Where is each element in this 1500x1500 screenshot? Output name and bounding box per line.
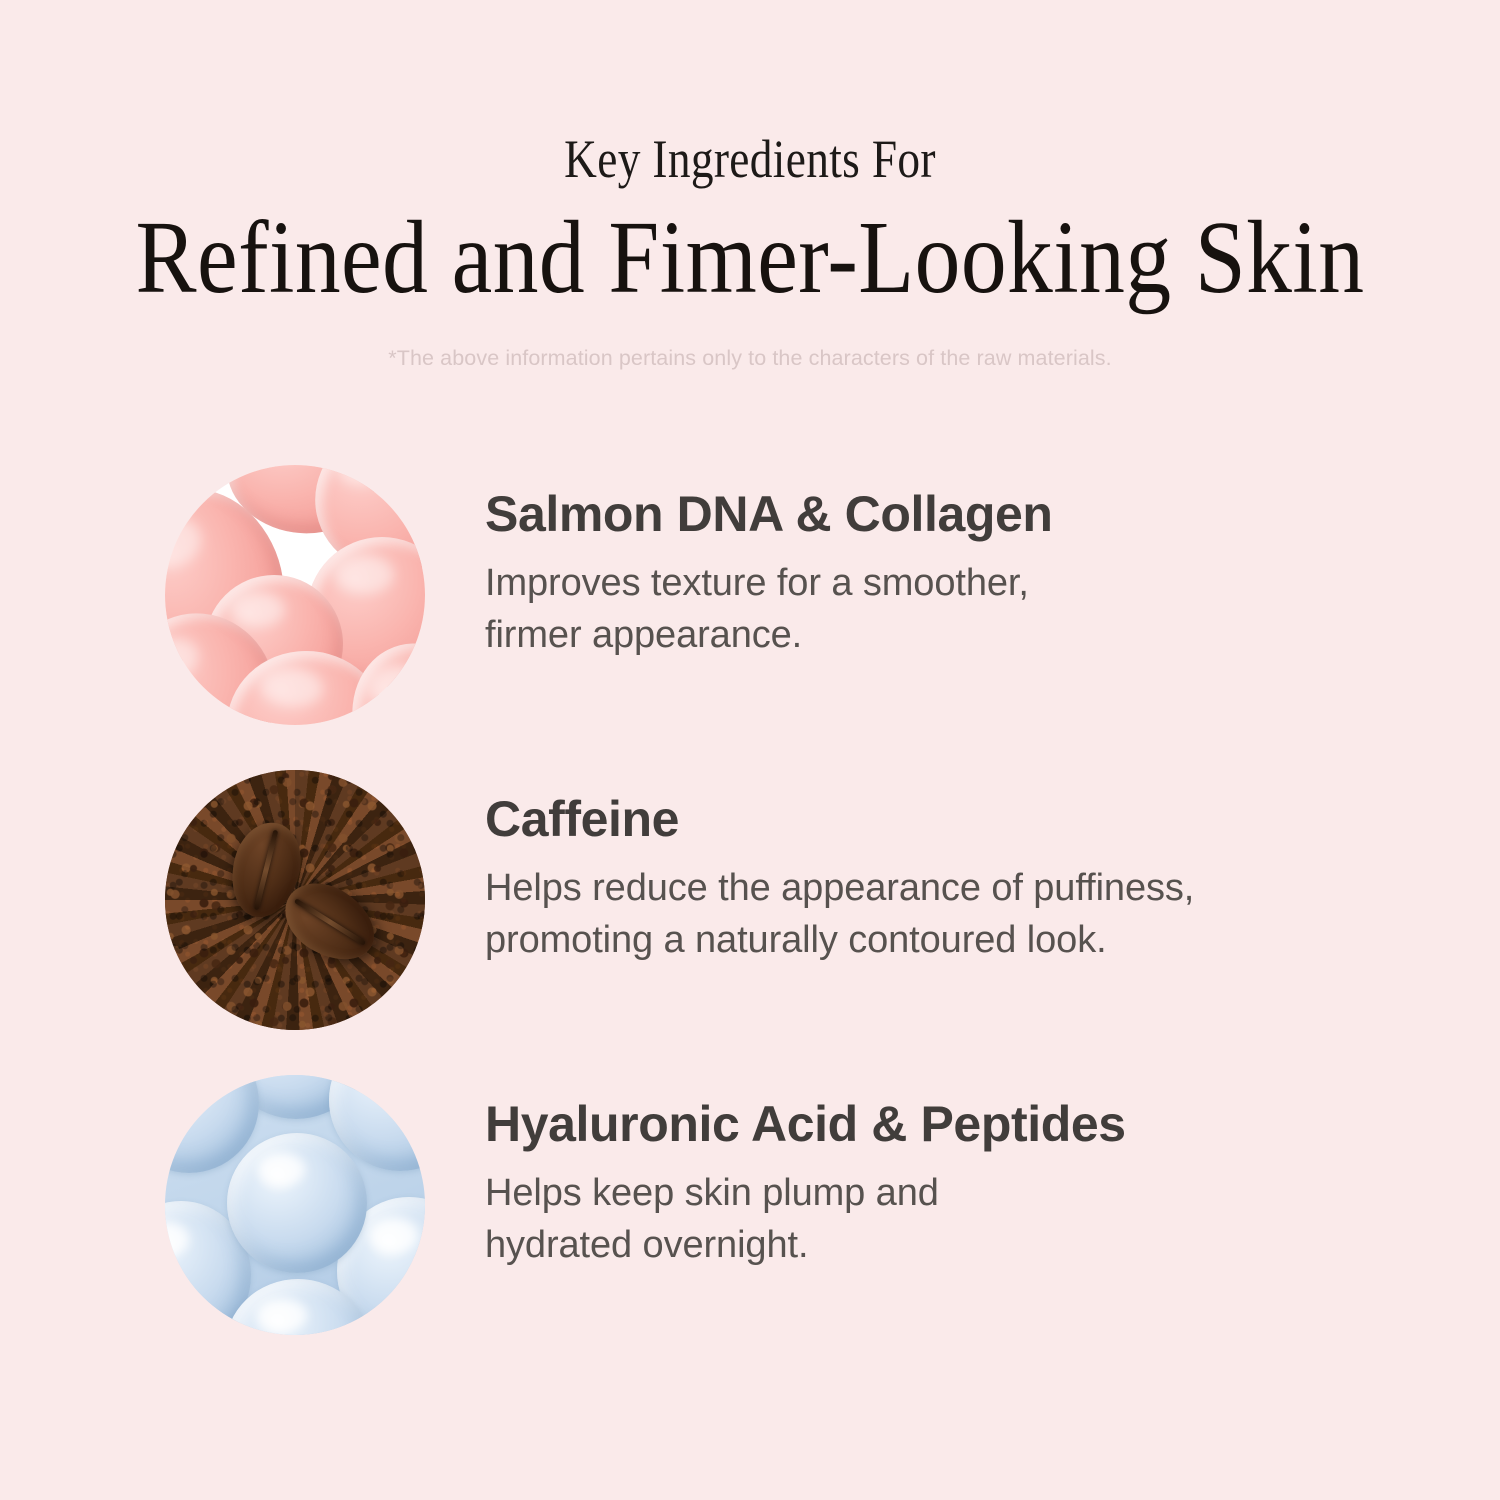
ingredient-title: Hyaluronic Acid & Peptides xyxy=(485,1095,1385,1153)
sphere-shape xyxy=(227,1133,367,1273)
ingredient-row-caffeine: Caffeine Helps reduce the appearance of … xyxy=(0,770,1500,1075)
ingredient-text-hyaluronic-acid-peptides: Hyaluronic Acid & Peptides Helps keep sk… xyxy=(485,1095,1385,1271)
blue-spheres-art xyxy=(165,1075,425,1335)
coffee-grounds-art xyxy=(165,770,425,1030)
eyebrow-heading: Key Ingredients For xyxy=(120,0,1380,190)
ingredient-text-caffeine: Caffeine Helps reduce the appearance of … xyxy=(485,790,1385,966)
pink-capsules-art xyxy=(165,465,425,725)
disclaimer-note: *The above information pertains only to … xyxy=(0,314,1500,372)
ingredient-list: Salmon DNA & Collagen Improves texture f… xyxy=(0,465,1500,1380)
ingredient-thumbnail-salmon-dna-collagen xyxy=(165,465,425,725)
ingredient-description: Improves texture for a smoother, firmer … xyxy=(485,543,1385,661)
header-block: Key Ingredients For Refined and Fimer-Lo… xyxy=(0,0,1500,372)
ingredient-text-salmon-dna-collagen: Salmon DNA & Collagen Improves texture f… xyxy=(485,485,1385,661)
pink-collagen-capsules-photo xyxy=(165,465,425,725)
page-title: Refined and Fimer-Looking Skin xyxy=(90,190,1410,314)
ingredient-title: Caffeine xyxy=(485,790,1385,848)
ingredient-thumbnail-hyaluronic-acid-peptides xyxy=(165,1075,425,1335)
ingredient-row-hyaluronic-acid-peptides: Hyaluronic Acid & Peptides Helps keep sk… xyxy=(0,1075,1500,1380)
ingredient-title: Salmon DNA & Collagen xyxy=(485,485,1385,543)
ingredients-infographic: Key Ingredients For Refined and Fimer-Lo… xyxy=(0,0,1500,1500)
ground-coffee-beans-photo xyxy=(165,770,425,1030)
ingredient-thumbnail-caffeine xyxy=(165,770,425,1030)
ingredient-row-salmon-dna-collagen: Salmon DNA & Collagen Improves texture f… xyxy=(0,465,1500,770)
ingredient-description: Helps reduce the appearance of puffiness… xyxy=(485,848,1385,966)
blue-hydration-spheres-photo xyxy=(165,1075,425,1335)
ingredient-description: Helps keep skin plump and hydrated overn… xyxy=(485,1153,1385,1271)
